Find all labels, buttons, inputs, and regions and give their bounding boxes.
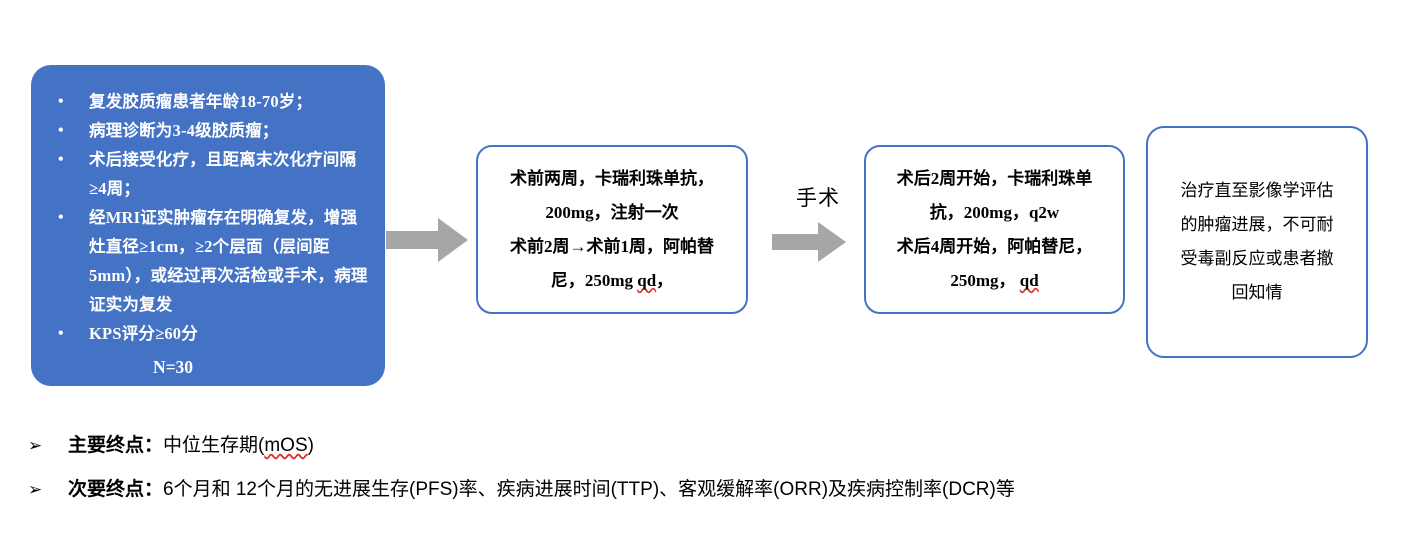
pre-op-line-1: 术前两周，卡瑞利珠单抗，	[510, 162, 714, 196]
until-progression-box: 治疗直至影像学评估 的肿瘤进展，不可耐 受毒副反应或患者撤 回知情	[1146, 126, 1368, 358]
bullet-icon: •	[58, 319, 64, 348]
primary-endpoint-label: 主要终点：	[68, 432, 163, 460]
criterion-text: 经MRI证实肿瘤存在明确复发，增强灶直径≥1cm，≥2个层面（层间距5mm），或…	[89, 208, 368, 314]
post-op-treatment-box: 术后2周开始，卡瑞利珠单 抗，200mg，q2w 术后4周开始，阿帕替尼， 25…	[864, 145, 1125, 314]
pre-op-treatment-box: 术前两周，卡瑞利珠单抗， 200mg，注射一次 术前2周→术前1周，阿帕替 尼，…	[476, 145, 748, 314]
post-op-line-2: 抗，200mg，q2w	[897, 196, 1093, 230]
pre-op-line-2: 200mg，注射一次	[510, 196, 714, 230]
list-item: • KPS评分≥60分	[45, 319, 371, 348]
misspelled-term: qd	[1020, 271, 1039, 290]
secondary-endpoint-label: 次要终点：	[68, 476, 163, 504]
sample-size-label: N=30	[45, 352, 371, 382]
criterion-text: 复发胶质瘤患者年龄18-70岁；	[89, 92, 312, 111]
surgery-step-label: 手术	[778, 182, 858, 212]
until-pd-line-1: 治疗直至影像学评估	[1181, 174, 1334, 208]
endpoints-section: ➢ 主要终点： 中位生存期(mOS) ➢ 次要终点： 6个月和 12个月的无进展…	[28, 432, 1368, 520]
post-op-line-1: 术后2周开始，卡瑞利珠单	[897, 162, 1093, 196]
bullet-icon: •	[58, 87, 64, 116]
pre-op-line-4: 尼，250mg qd，	[510, 264, 714, 298]
flow-arrow-right-icon	[386, 218, 468, 267]
until-progression-text: 治疗直至影像学评估 的肿瘤进展，不可耐 受毒副反应或患者撤 回知情	[1171, 174, 1344, 310]
eligibility-criteria-list: • 复发胶质瘤患者年龄18-70岁； • 病理诊断为3-4级胶质瘤； • 术后接…	[45, 87, 371, 348]
bullet-icon: •	[58, 203, 64, 232]
primary-endpoint-row: ➢ 主要终点： 中位生存期(mOS)	[28, 432, 1368, 460]
post-op-treatment-text: 术后2周开始，卡瑞利珠单 抗，200mg，q2w 术后4周开始，阿帕替尼， 25…	[887, 162, 1103, 298]
post-op-line-4-prefix: 250mg，	[950, 271, 1019, 290]
list-item: • 术后接受化疗，且距离末次化疗间隔≥4周；	[45, 145, 371, 203]
eligibility-criteria-box: • 复发胶质瘤患者年龄18-70岁； • 病理诊断为3-4级胶质瘤； • 术后接…	[31, 65, 385, 386]
pre-op-line-4-prefix: 尼，250mg	[551, 271, 637, 290]
list-item: • 病理诊断为3-4级胶质瘤；	[45, 116, 371, 145]
criterion-text: KPS评分≥60分	[89, 324, 198, 343]
secondary-endpoint-value: 6个月和 12个月的无进展生存(PFS)率、疾病进展时间(TTP)、客观缓解率(…	[163, 476, 1015, 504]
until-pd-line-2: 的肿瘤进展，不可耐	[1181, 208, 1334, 242]
list-item: • 经MRI证实肿瘤存在明确复发，增强灶直径≥1cm，≥2个层面（层间距5mm）…	[45, 203, 371, 319]
until-pd-line-4: 回知情	[1181, 276, 1334, 310]
bullet-icon: •	[58, 145, 64, 174]
pre-op-line-3: 术前2周→术前1周，阿帕替	[510, 230, 714, 264]
arrowhead-bullet-icon: ➢	[28, 476, 68, 504]
flow-arrow-right-icon	[772, 222, 846, 267]
secondary-endpoint-row: ➢ 次要终点： 6个月和 12个月的无进展生存(PFS)率、疾病进展时间(TTP…	[28, 476, 1368, 504]
bullet-icon: •	[58, 116, 64, 145]
misspelled-term: mOS	[264, 435, 307, 456]
post-op-line-4: 250mg， qd	[897, 264, 1093, 298]
criterion-text: 病理诊断为3-4级胶质瘤；	[89, 121, 279, 140]
list-item: • 复发胶质瘤患者年龄18-70岁；	[45, 87, 371, 116]
pre-op-treatment-text: 术前两周，卡瑞利珠单抗， 200mg，注射一次 术前2周→术前1周，阿帕替 尼，…	[500, 162, 724, 298]
primary-endpoint-value: 中位生存期(mOS)	[163, 432, 314, 460]
arrowhead-bullet-icon: ➢	[28, 432, 68, 460]
until-pd-line-3: 受毒副反应或患者撤	[1181, 242, 1334, 276]
criterion-text: 术后接受化疗，且距离末次化疗间隔≥4周；	[89, 150, 356, 198]
post-op-line-3: 术后4周开始，阿帕替尼，	[897, 230, 1093, 264]
pre-op-line-4-suffix: ，	[656, 271, 673, 290]
misspelled-term: qd	[637, 271, 656, 290]
